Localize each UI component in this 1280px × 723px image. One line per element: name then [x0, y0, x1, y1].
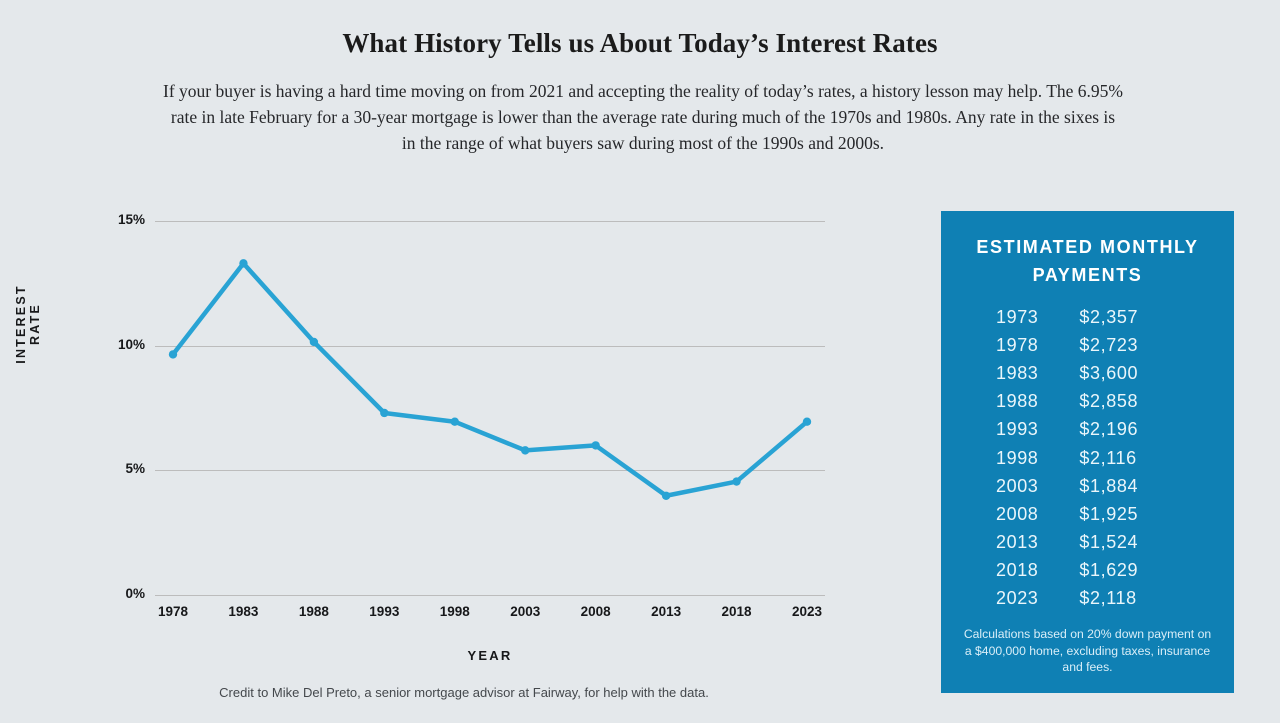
payment-year: 2008 [963, 504, 1071, 525]
payment-amount: $3,600 [1071, 363, 1212, 384]
payment-amount: $2,723 [1071, 335, 1212, 356]
interest-rate-line-chart: INTEREST RATE YEAR 15%10%5%0% 1978198319… [0, 0, 905, 723]
y-axis-title: INTEREST RATE [14, 264, 42, 384]
payment-amount: $1,884 [1071, 476, 1212, 497]
table-row: 2018$1,629 [963, 557, 1212, 585]
payment-year: 2023 [963, 588, 1071, 609]
x-axis-tick-label: 2003 [485, 604, 565, 619]
x-axis-tick-labels: 1978198319881993199820032008201320182023 [155, 604, 825, 630]
data-point[interactable] [732, 477, 740, 485]
payment-year: 1988 [963, 391, 1071, 412]
payment-amount: $1,524 [1071, 532, 1212, 553]
table-row: 1998$2,116 [963, 444, 1212, 472]
y-axis-tick-label: 15% [85, 212, 145, 227]
table-row: 2003$1,884 [963, 472, 1212, 500]
x-axis-tick-label: 1998 [415, 604, 495, 619]
payment-year: 2013 [963, 532, 1071, 553]
data-point[interactable] [169, 350, 177, 358]
table-row: 1973$2,357 [963, 303, 1212, 331]
table-row: 2013$1,524 [963, 529, 1212, 557]
data-point[interactable] [521, 446, 529, 454]
plot-area [155, 221, 825, 595]
payment-year: 1998 [963, 448, 1071, 469]
table-row: 2023$2,118 [963, 585, 1212, 613]
data-point[interactable] [591, 441, 599, 449]
gridline [155, 595, 825, 596]
table-row: 1983$3,600 [963, 359, 1212, 387]
x-axis-tick-label: 2008 [556, 604, 636, 619]
payment-year: 1983 [963, 363, 1071, 384]
payment-amount: $2,118 [1071, 588, 1212, 609]
payment-year: 2018 [963, 560, 1071, 581]
table-row: 2008$1,925 [963, 500, 1212, 528]
y-axis-tick-label: 0% [85, 586, 145, 601]
x-axis-tick-label: 2018 [697, 604, 777, 619]
panel-title: ESTIMATED MONTHLY PAYMENTS [963, 233, 1212, 289]
data-point[interactable] [803, 418, 811, 426]
panel-footnote: Calculations based on 20% down payment o… [961, 626, 1214, 676]
x-axis-tick-label: 2013 [626, 604, 706, 619]
payment-year: 1973 [963, 307, 1071, 328]
x-axis-tick-label: 1993 [344, 604, 424, 619]
payment-year: 2003 [963, 476, 1071, 497]
y-axis-tick-label: 10% [85, 337, 145, 352]
payment-amount: $2,357 [1071, 307, 1212, 328]
x-axis-tick-label: 1988 [274, 604, 354, 619]
table-row: 1988$2,858 [963, 388, 1212, 416]
y-axis-tick-labels: 15%10%5%0% [85, 221, 145, 595]
series-line-layer [155, 221, 825, 595]
data-point[interactable] [310, 338, 318, 346]
table-row: 1993$2,196 [963, 416, 1212, 444]
payment-year: 1993 [963, 419, 1071, 440]
data-point[interactable] [239, 259, 247, 267]
series-line [173, 263, 807, 495]
x-axis-tick-label: 2023 [767, 604, 847, 619]
payment-amount: $2,116 [1071, 448, 1212, 469]
x-axis-title: YEAR [155, 648, 825, 663]
payment-amount: $1,629 [1071, 560, 1212, 581]
data-point[interactable] [451, 418, 459, 426]
payment-amount: $1,925 [1071, 504, 1212, 525]
credit-line: Credit to Mike Del Preto, a senior mortg… [0, 685, 928, 700]
payment-amount: $2,858 [1071, 391, 1212, 412]
x-axis-tick-label: 1983 [203, 604, 283, 619]
data-point[interactable] [662, 492, 670, 500]
payment-amount: $2,196 [1071, 419, 1212, 440]
y-axis-tick-label: 5% [85, 461, 145, 476]
payments-table: 1973$2,3571978$2,7231983$3,6001988$2,858… [963, 303, 1212, 613]
x-axis-tick-label: 1978 [133, 604, 213, 619]
table-row: 1978$2,723 [963, 331, 1212, 359]
payment-year: 1978 [963, 335, 1071, 356]
data-point[interactable] [380, 409, 388, 417]
estimated-monthly-payments-panel: ESTIMATED MONTHLY PAYMENTS 1973$2,357197… [941, 211, 1234, 693]
